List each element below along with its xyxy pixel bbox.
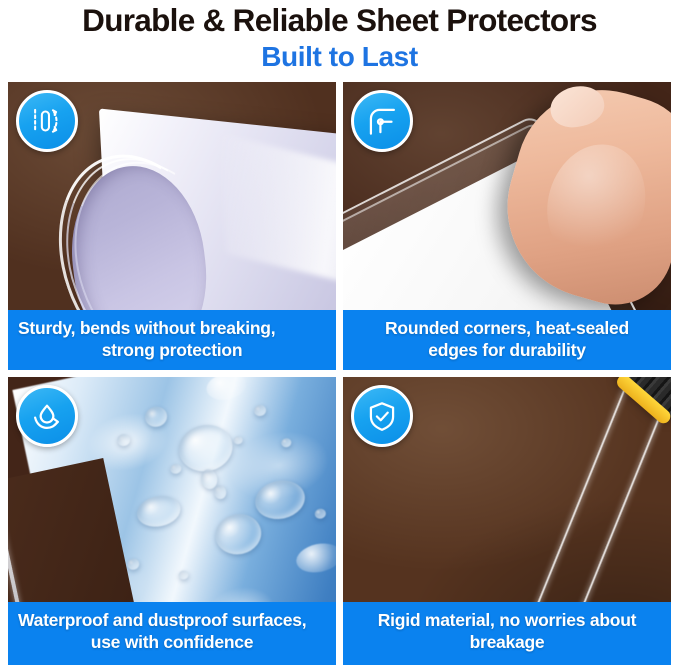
caption-line-2: strong protection (18, 339, 326, 361)
caption-line-1: Rigid material, no worries about (353, 609, 661, 631)
caption-flexibility: Sturdy, bends without breaking, strong p… (8, 310, 336, 370)
feature-panel-rounded-corners: Rounded corners, heat-sealed edges for d… (343, 82, 671, 370)
caption-rigidity: Rigid material, no worries about breakag… (343, 602, 671, 665)
sheet-highlight (220, 134, 336, 301)
page-subtitle: Built to Last (0, 38, 679, 73)
caption-line-2: breakage (353, 631, 661, 653)
caption-line-2: use with confidence (18, 631, 326, 653)
bend-flex-icon (16, 90, 78, 152)
caption-line-2: edges for durability (353, 339, 661, 361)
page-title: Durable & Reliable Sheet Protectors (0, 0, 679, 38)
feature-panel-waterproof: Waterproof and dustproof surfaces, use w… (8, 377, 336, 665)
feature-panel-flexibility: Sturdy, bends without breaking, strong p… (8, 82, 336, 370)
finger-highlight (534, 133, 659, 275)
caption-line-1: Sturdy, bends without breaking, (18, 317, 326, 339)
caption-line-1: Rounded corners, heat-sealed (353, 317, 661, 339)
header: Durable & Reliable Sheet Protectors Buil… (0, 0, 679, 80)
rounded-corner-icon (351, 90, 413, 152)
water-repellent-icon (16, 385, 78, 447)
feature-panel-rigidity: Rigid material, no worries about breakag… (343, 377, 671, 665)
caption-waterproof: Waterproof and dustproof surfaces, use w… (8, 602, 336, 665)
feature-grid: Sturdy, bends without breaking, strong p… (8, 82, 671, 665)
shield-check-icon (351, 385, 413, 447)
product-infographic: Durable & Reliable Sheet Protectors Buil… (0, 0, 679, 665)
caption-line-1: Waterproof and dustproof surfaces, (18, 609, 326, 631)
caption-rounded-corners: Rounded corners, heat-sealed edges for d… (343, 310, 671, 370)
